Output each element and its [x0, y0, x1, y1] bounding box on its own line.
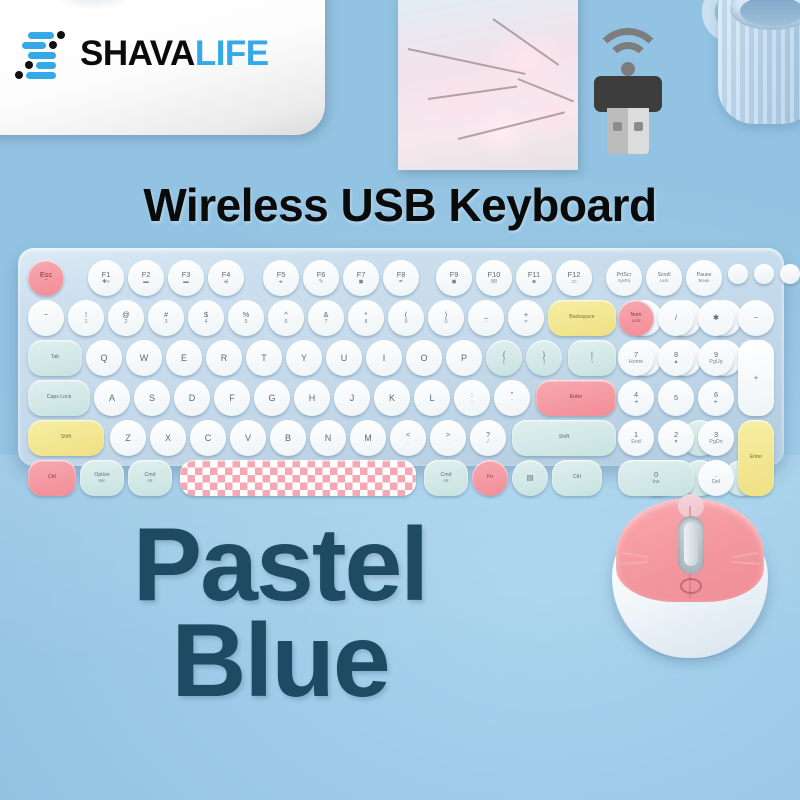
key-legend-secondary: ✎: [319, 279, 324, 285]
key-a[interactable]: A: [94, 380, 130, 416]
key-blank[interactable]: )0: [428, 300, 464, 336]
key-legend-primary: }: [543, 351, 545, 359]
key-blank[interactable]: ▤: [512, 460, 548, 496]
key-legend-primary: @: [122, 311, 130, 319]
product-color-label: Pastel Blue: [0, 518, 560, 709]
cherry-blossom-book-cover: [398, 0, 578, 170]
key-legend-primary: F1: [102, 271, 111, 279]
key-t[interactable]: T: [246, 340, 282, 376]
key-legend-primary: |: [591, 351, 593, 359]
key-blank[interactable]: [728, 264, 748, 284]
key-legend-primary: 2: [674, 431, 678, 439]
key-legend-primary: F7: [357, 271, 366, 279]
key-7[interactable]: 7Home: [618, 340, 654, 376]
laptop-highlight: [50, 0, 140, 10]
key-blank[interactable]: $4: [188, 300, 224, 336]
key-blank[interactable]: &7: [308, 300, 344, 336]
key-legend-secondary: ▬: [183, 279, 188, 285]
key-c[interactable]: C: [190, 420, 226, 456]
key-legend-primary: Shift: [559, 435, 569, 441]
key-legend-primary: Caps Lock: [47, 395, 72, 401]
key-legend-primary: +: [524, 311, 528, 319]
key-blank[interactable]: ^6: [268, 300, 304, 336]
key-legend-primary: .: [715, 471, 717, 479]
key-legend-secondary: Break: [699, 279, 710, 284]
key-legend-secondary: Lock: [660, 279, 669, 284]
key-legend-primary: /: [675, 314, 677, 322]
key-legend-primary: C: [205, 433, 212, 443]
key-legend-primary: >: [446, 431, 450, 439]
key-esc[interactable]: Esc⌃: [28, 260, 64, 296]
key-legend-primary: F9: [450, 271, 459, 279]
key-legend-secondary: Lock: [632, 319, 641, 324]
key-legend-secondary: .: [447, 439, 449, 445]
wireless-keyboard[interactable]: Esc⌃F1✱⌕F2▬F3▬F4◂)F5◂·F6✎F7◼F8✒F9◼F1088F…: [18, 248, 784, 466]
key-legend-primary: U: [341, 353, 348, 363]
key-f[interactable]: F: [214, 380, 250, 416]
key-legend-secondary: /: [487, 439, 489, 445]
key-prtscr[interactable]: PrtScrSysRq: [606, 260, 642, 296]
key-legend-primary: F10: [488, 271, 501, 279]
key-legend-secondary: 9: [405, 319, 408, 325]
key-blank[interactable]: +: [738, 340, 774, 416]
key-blank[interactable]: #3: [148, 300, 184, 336]
ceramic-mug: [700, 0, 800, 126]
key-f9[interactable]: F9◼: [436, 260, 472, 296]
key-fn[interactable]: Fn: [472, 460, 508, 496]
key-legend-secondary: ;: [471, 399, 473, 405]
key-legend-secondary: 8: [365, 319, 368, 325]
key-legend-primary: Shift: [61, 435, 71, 441]
key-blank[interactable]: @2: [108, 300, 144, 336]
key-legend-secondary: End: [631, 439, 641, 445]
key-capslock[interactable]: Caps Lock: [28, 380, 90, 416]
key-legend-secondary: 88: [491, 279, 497, 285]
key-enter[interactable]: Enter: [536, 380, 616, 416]
logo-text-primary: SHAVA: [80, 34, 195, 73]
key-shift[interactable]: Shift: [28, 420, 104, 456]
key-legend-secondary: 6: [285, 319, 288, 325]
key-legend-secondary: Alt: [444, 479, 449, 484]
key-blank[interactable]: :;: [454, 380, 490, 416]
key-blank[interactable]: *8: [348, 300, 384, 336]
key-legend-primary: ": [511, 391, 514, 399]
key-blank[interactable]: (9: [388, 300, 424, 336]
key-legend-primary: 5: [674, 394, 678, 402]
key-legend-primary: 9: [714, 351, 718, 359]
key-x[interactable]: X: [150, 420, 186, 456]
key-blank[interactable]: /: [658, 300, 694, 336]
key-legend-primary: F11: [528, 271, 540, 279]
key-enter[interactable]: Enter: [738, 420, 774, 496]
key-legend-secondary: 5: [245, 319, 248, 325]
key-l[interactable]: L: [414, 380, 450, 416]
key-legend-primary: 1: [634, 431, 638, 439]
keyboard-key-area: Esc⌃F1✱⌕F2▬F3▬F4◂)F5◂·F6✎F7◼F8✒F9◼F1088F…: [28, 256, 774, 458]
key-legend-secondary: -: [485, 319, 487, 325]
key-legend-secondary: PgDn: [709, 439, 723, 445]
key-3[interactable]: 3PgDn: [698, 420, 734, 456]
key-b[interactable]: B: [270, 420, 306, 456]
key-legend-secondary: 1: [85, 319, 88, 325]
key-legend-primary: _: [484, 311, 488, 319]
key-w[interactable]: W: [126, 340, 162, 376]
key-legend-primary: ▤: [527, 474, 534, 482]
key-blank[interactable]: "': [494, 380, 530, 416]
blossom-branch: [428, 85, 517, 100]
key-legend-primary: +: [754, 374, 758, 382]
key-backspace[interactable]: Backspace: [548, 300, 616, 336]
key-legend-primary: 8: [674, 351, 678, 359]
key-legend-primary: O: [420, 353, 427, 363]
key-legend-primary: F3: [182, 271, 191, 279]
key-y[interactable]: Y: [286, 340, 322, 376]
key-legend-secondary: ▾: [675, 439, 678, 445]
key-legend-primary: Y: [301, 353, 307, 363]
usb-connector: [607, 108, 649, 154]
key-legend-primary: Tab: [51, 355, 59, 361]
key-6[interactable]: 6▸: [698, 380, 734, 416]
key-legend-primary: Z: [125, 433, 131, 443]
key-legend-primary: D: [189, 393, 196, 403]
key-tab[interactable]: Tab: [28, 340, 82, 376]
key-blank[interactable]: >.: [430, 420, 466, 456]
key-legend-primary: #: [164, 311, 168, 319]
key-legend-secondary: ◂): [224, 279, 229, 285]
key-legend-secondary: ▬: [143, 279, 148, 285]
key-blank[interactable]: {[: [486, 340, 522, 376]
key-legend-primary: R: [221, 353, 228, 363]
key-legend-secondary: 7: [325, 319, 328, 325]
key-k[interactable]: K: [374, 380, 410, 416]
key-legend-primary: Enter: [750, 455, 762, 461]
key-blank[interactable]: ~`: [28, 300, 64, 336]
key-legend-primary: Ctrl: [48, 475, 56, 481]
key-blank[interactable]: %5: [228, 300, 264, 336]
scroll-wheel[interactable]: [684, 522, 698, 566]
key-blank[interactable]: ✱: [698, 300, 734, 336]
key-legend-primary: S: [149, 393, 155, 403]
key-legend-secondary: Home: [629, 359, 643, 365]
key-f8[interactable]: F8✒: [383, 260, 419, 296]
key-legend-primary: B: [285, 433, 291, 443]
key-n[interactable]: N: [310, 420, 346, 456]
key-f11[interactable]: F11◙: [516, 260, 552, 296]
key-h[interactable]: H: [294, 380, 330, 416]
key-legend-secondary: ◂·: [279, 279, 284, 285]
key-legend-primary: W: [140, 353, 149, 363]
key-ctrl[interactable]: Ctrl: [552, 460, 602, 496]
key-legend-secondary: 4: [205, 319, 208, 325]
key-legend-primary: 3: [714, 431, 718, 439]
blossom-branch: [492, 18, 559, 66]
key-blank[interactable]: ?/: [470, 420, 506, 456]
key-legend-secondary: 0: [445, 319, 448, 325]
key-legend-primary: Q: [100, 353, 107, 363]
key-f12[interactable]: F12▭: [556, 260, 592, 296]
key-legend-secondary: ⌃: [44, 279, 49, 285]
key-v[interactable]: V: [230, 420, 266, 456]
key-o[interactable]: O: [406, 340, 442, 376]
key-u[interactable]: U: [326, 340, 362, 376]
key-r[interactable]: R: [206, 340, 242, 376]
key-cmd[interactable]: CmdAlt: [424, 460, 468, 496]
key-legend-secondary: ▸: [715, 399, 718, 405]
key-blank[interactable]: _-: [468, 300, 504, 336]
key-legend-secondary: =: [524, 319, 527, 325]
usb-wireless-dongle-icon: [580, 24, 676, 166]
key-legend-secondary: \: [591, 359, 593, 365]
key-legend-secondary: ▲: [673, 359, 678, 365]
key-legend-primary: −: [754, 314, 758, 322]
key-legend-primary: Enter: [570, 395, 582, 401]
key-blank[interactable]: −: [738, 300, 774, 336]
product-color-line-1: Pastel: [0, 518, 560, 614]
key-legend-primary: V: [245, 433, 251, 443]
key-legend-secondary: ✱⌕: [102, 279, 110, 285]
key-legend-primary: F6: [317, 271, 326, 279]
key-legend-primary: I: [383, 353, 386, 363]
key-0[interactable]: 0Ins: [618, 460, 694, 496]
blossom-branch: [458, 111, 565, 140]
key-legend-primary: M: [364, 433, 372, 443]
key-legend-primary: %: [243, 311, 250, 319]
key-legend-primary: $: [204, 311, 208, 319]
key-legend-primary: F5: [277, 271, 286, 279]
motion-bars-icon: [14, 28, 66, 78]
key-blank[interactable]: [780, 264, 800, 284]
key-i[interactable]: I: [366, 340, 402, 376]
blossom-branch: [408, 48, 526, 75]
key-f10[interactable]: F1088: [476, 260, 512, 296]
key-f2[interactable]: F2▬: [128, 260, 164, 296]
key-legend-primary: F: [229, 393, 235, 403]
key-legend-secondary: Del: [712, 479, 720, 485]
key-j[interactable]: J: [334, 380, 370, 416]
key-blank[interactable]: .Del: [698, 460, 734, 496]
key-f3[interactable]: F3▬: [168, 260, 204, 296]
blossom-branch: [518, 78, 574, 102]
key-legend-primary: ~: [44, 311, 48, 319]
key-blank[interactable]: +=: [508, 300, 544, 336]
key-blank[interactable]: [180, 460, 416, 496]
key-legend-primary: A: [109, 393, 115, 403]
key-q[interactable]: Q: [86, 340, 122, 376]
key-legend-secondary: ': [511, 399, 512, 405]
mouse-center-notch: [678, 494, 704, 518]
key-legend-primary: F2: [142, 271, 151, 279]
key-num[interactable]: NumLock: [618, 300, 654, 336]
key-1[interactable]: 1End: [618, 420, 654, 456]
key-legend-primary: ^: [284, 311, 287, 319]
key-s[interactable]: S: [134, 380, 170, 416]
key-legend-primary: {: [503, 351, 505, 359]
key-legend-secondary: ▭: [571, 279, 576, 285]
key-legend-primary: K: [389, 393, 395, 403]
key-8[interactable]: 8▲: [658, 340, 694, 376]
key-legend-secondary: 2: [125, 319, 128, 325]
key-legend-secondary: 3: [165, 319, 168, 325]
key-4[interactable]: 4◂: [618, 380, 654, 416]
key-legend-primary: Fn: [487, 475, 493, 481]
key-legend-primary: H: [309, 393, 316, 403]
key-legend-primary: Ctrl: [573, 475, 581, 481]
wifi-signal-dot: [621, 62, 635, 76]
page-title: Wireless USB Keyboard: [0, 178, 800, 232]
key-blank[interactable]: }]: [526, 340, 562, 376]
key-d[interactable]: D: [174, 380, 210, 416]
key-legend-secondary: Ins: [652, 479, 659, 485]
logo-text-accent: LIFE: [195, 34, 269, 73]
key-legend-primary: *: [365, 311, 368, 319]
key-legend-secondary: PgUp: [709, 359, 723, 365]
dpi-button[interactable]: [680, 578, 702, 594]
key-legend-primary: E: [181, 353, 187, 363]
key-legend-primary: L: [429, 393, 434, 403]
key-legend-primary: 7: [634, 351, 638, 359]
key-legend-primary: P: [461, 353, 467, 363]
key-f5[interactable]: F5◂·: [263, 260, 299, 296]
key-m[interactable]: M: [350, 420, 386, 456]
key-shift[interactable]: Shift: [512, 420, 616, 456]
key-legend-secondary: ◂: [635, 399, 638, 405]
key-legend-primary: 4: [634, 391, 638, 399]
key-g[interactable]: G: [254, 380, 290, 416]
key-ctrl[interactable]: Ctrl: [28, 460, 76, 496]
key-legend-primary: Backspace: [569, 315, 594, 321]
key-legend-secondary: ◼: [452, 279, 456, 285]
brand-logo: SHAVALIFE: [14, 28, 269, 78]
key-legend-secondary: SysRq: [618, 279, 630, 284]
key-legend-primary: Esc: [40, 271, 52, 279]
key-z[interactable]: Z: [110, 420, 146, 456]
key-legend-secondary: ◙: [532, 279, 535, 285]
key-blank[interactable]: !1: [68, 300, 104, 336]
key-legend-primary: ✱: [713, 314, 719, 322]
key-legend-primary: G: [268, 393, 275, 403]
key-legend-primary: (: [405, 311, 407, 319]
key-legend-secondary: Alt: [148, 479, 153, 484]
key-legend-primary: <: [406, 431, 410, 439]
key-cmd[interactable]: CmdAlt: [128, 460, 172, 496]
dongle-body: [594, 76, 662, 112]
key-5[interactable]: 5: [658, 380, 694, 416]
key-legend-secondary: ,: [407, 439, 409, 445]
key-legend-primary: T: [261, 353, 267, 363]
key-blank[interactable]: |\: [568, 340, 616, 376]
key-legend-primary: J: [350, 393, 355, 403]
key-9[interactable]: 9PgUp: [698, 340, 734, 376]
product-color-line-2: Blue: [0, 614, 560, 710]
wireless-mouse[interactable]: [600, 492, 780, 662]
key-2[interactable]: 2▾: [658, 420, 694, 456]
key-legend-secondary: `: [45, 319, 47, 325]
key-e[interactable]: E: [166, 340, 202, 376]
key-legend-primary: N: [325, 433, 332, 443]
key-f1[interactable]: F1✱⌕: [88, 260, 124, 296]
key-legend-primary: :: [471, 391, 473, 399]
key-legend-primary: 0: [654, 471, 658, 479]
key-legend-primary: !: [85, 311, 87, 319]
key-legend-secondary: [: [503, 359, 505, 365]
key-legend-primary: F12: [568, 271, 581, 279]
key-legend-secondary: Win: [98, 479, 105, 484]
key-legend-primary: F8: [397, 271, 406, 279]
key-legend-primary: 6: [714, 391, 718, 399]
key-option[interactable]: OptionWin: [80, 460, 124, 496]
key-legend-secondary: ✒: [399, 279, 404, 285]
key-legend-primary: &: [324, 311, 329, 319]
key-f7[interactable]: F7◼: [343, 260, 379, 296]
key-f6[interactable]: F6✎: [303, 260, 339, 296]
key-blank[interactable]: <,: [390, 420, 426, 456]
key-p[interactable]: P: [446, 340, 482, 376]
key-blank[interactable]: [754, 264, 774, 284]
key-legend-primary: X: [165, 433, 171, 443]
key-legend-primary: ?: [486, 431, 490, 439]
key-legend-secondary: ◼: [359, 279, 363, 285]
key-pause[interactable]: PauseBreak: [686, 260, 722, 296]
key-legend-primary: ): [445, 311, 447, 319]
key-scroll[interactable]: ScrollLock: [646, 260, 682, 296]
key-f4[interactable]: F4◂): [208, 260, 244, 296]
key-legend-secondary: ]: [543, 359, 545, 365]
key-legend-primary: F4: [222, 271, 231, 279]
